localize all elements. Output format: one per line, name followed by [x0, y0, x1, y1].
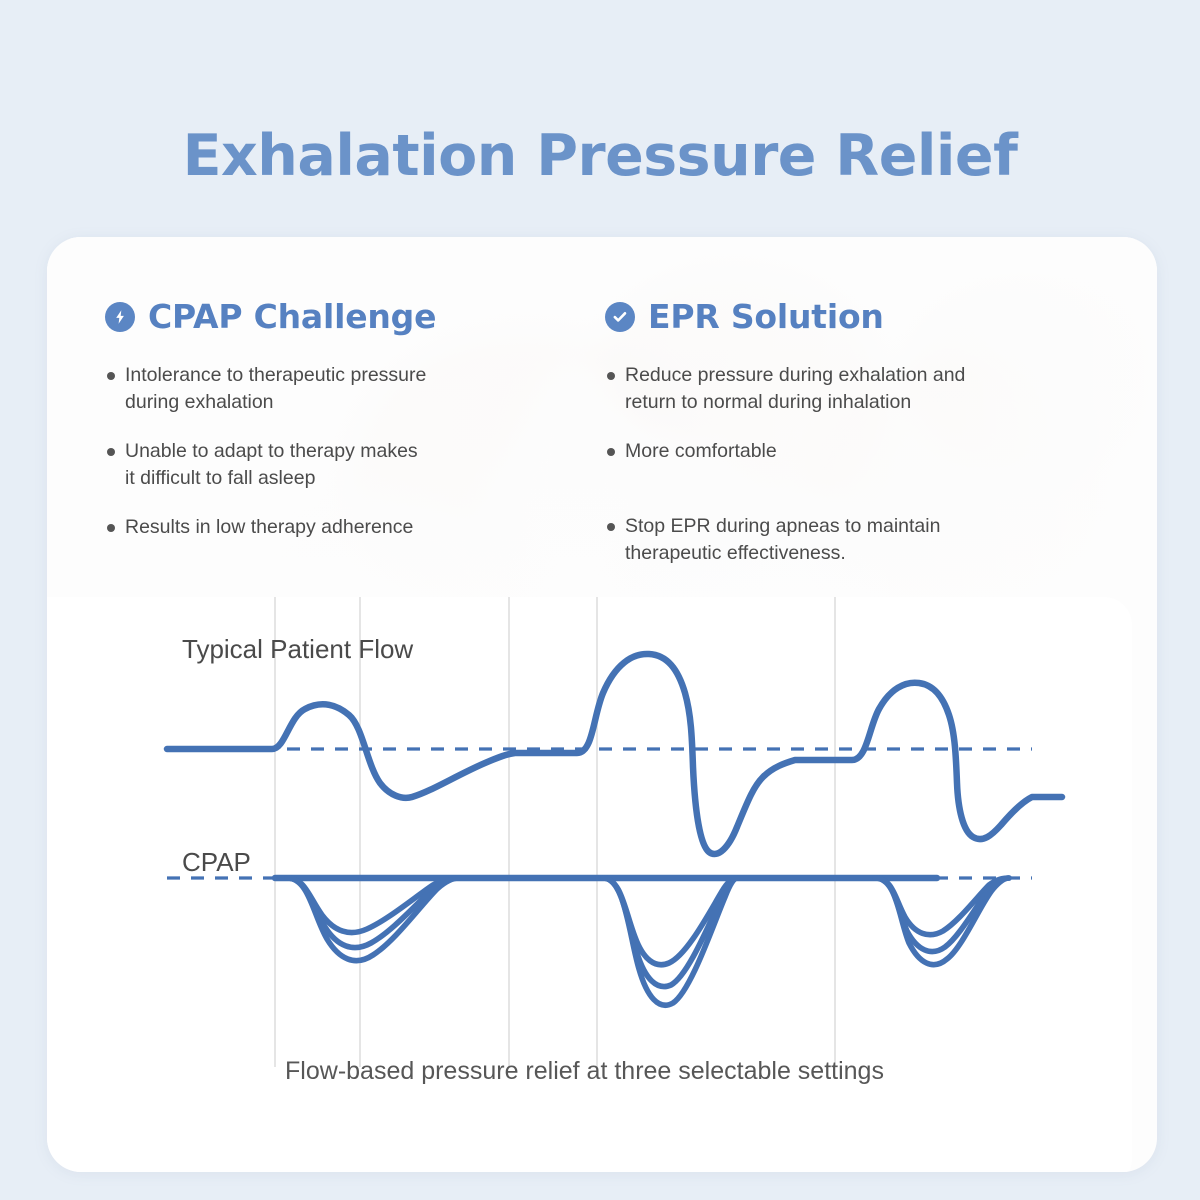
flow-waveform-path — [167, 654, 1062, 854]
main-card: CPAP Challenge Intolerance to therapeuti… — [47, 237, 1157, 1172]
column-cpap-challenge: CPAP Challenge Intolerance to therapeuti… — [105, 297, 575, 563]
chart-label-cpap: CPAP — [182, 847, 251, 878]
epr-solution-header: EPR Solution — [605, 297, 1105, 336]
list-item: Stop EPR during apneas to maintain thera… — [605, 513, 1105, 567]
list-item: Intolerance to therapeutic pressure duri… — [105, 362, 575, 416]
bullet-line: Stop EPR during apneas to maintain — [625, 513, 1105, 540]
bullet-line: Results in low therapy adherence — [125, 514, 575, 541]
epr-solution-title: EPR Solution — [648, 297, 884, 336]
bullet-line: therapeutic effectiveness. — [625, 540, 1105, 567]
bullet-line: it difficult to fall asleep — [125, 465, 575, 492]
trace-typical-patient-flow — [167, 654, 1062, 854]
bullet-line: Intolerance to therapeutic pressure — [125, 362, 575, 389]
check-circle-icon — [605, 302, 635, 332]
bullet-line: Unable to adapt to therapy makes — [125, 438, 575, 465]
list-item: Unable to adapt to therapy makes it diff… — [105, 438, 575, 492]
lightning-bolt-icon — [105, 302, 135, 332]
waveform-svg — [47, 597, 1132, 1067]
chart-label-typical-patient-flow: Typical Patient Flow — [182, 634, 413, 665]
waveform-chart: Typical Patient Flow CPAP Flow-based pre… — [47, 597, 1132, 1172]
trace-cpap-pressure — [167, 878, 1032, 1005]
cpap-challenge-header: CPAP Challenge — [105, 297, 575, 336]
chart-card: Typical Patient Flow CPAP Flow-based pre… — [47, 597, 1132, 1172]
chart-gridlines — [275, 597, 835, 1067]
column-epr-solution: EPR Solution Reduce pressure during exha… — [605, 297, 1105, 589]
cpap-challenge-title: CPAP Challenge — [148, 297, 436, 336]
list-item: More comfortable — [605, 438, 1105, 465]
bullet-line: Reduce pressure during exhalation and — [625, 362, 1105, 389]
bullet-line: More comfortable — [625, 438, 1105, 465]
page-title: Exhalation Pressure Relief — [0, 123, 1200, 189]
bullet-line: during exhalation — [125, 389, 575, 416]
cpap-relief2-setting-2 — [603, 878, 737, 987]
cpap-relief-setting-3 — [287, 878, 459, 961]
list-item: Reduce pressure during exhalation and re… — [605, 362, 1105, 416]
bullet-line: return to normal during inhalation — [625, 389, 1105, 416]
cpap-challenge-list: Intolerance to therapeutic pressure duri… — [105, 362, 575, 541]
chart-caption: Flow-based pressure relief at three sele… — [47, 1057, 1132, 1086]
list-item: Results in low therapy adherence — [105, 514, 575, 541]
epr-solution-list: Reduce pressure during exhalation and re… — [605, 362, 1105, 567]
